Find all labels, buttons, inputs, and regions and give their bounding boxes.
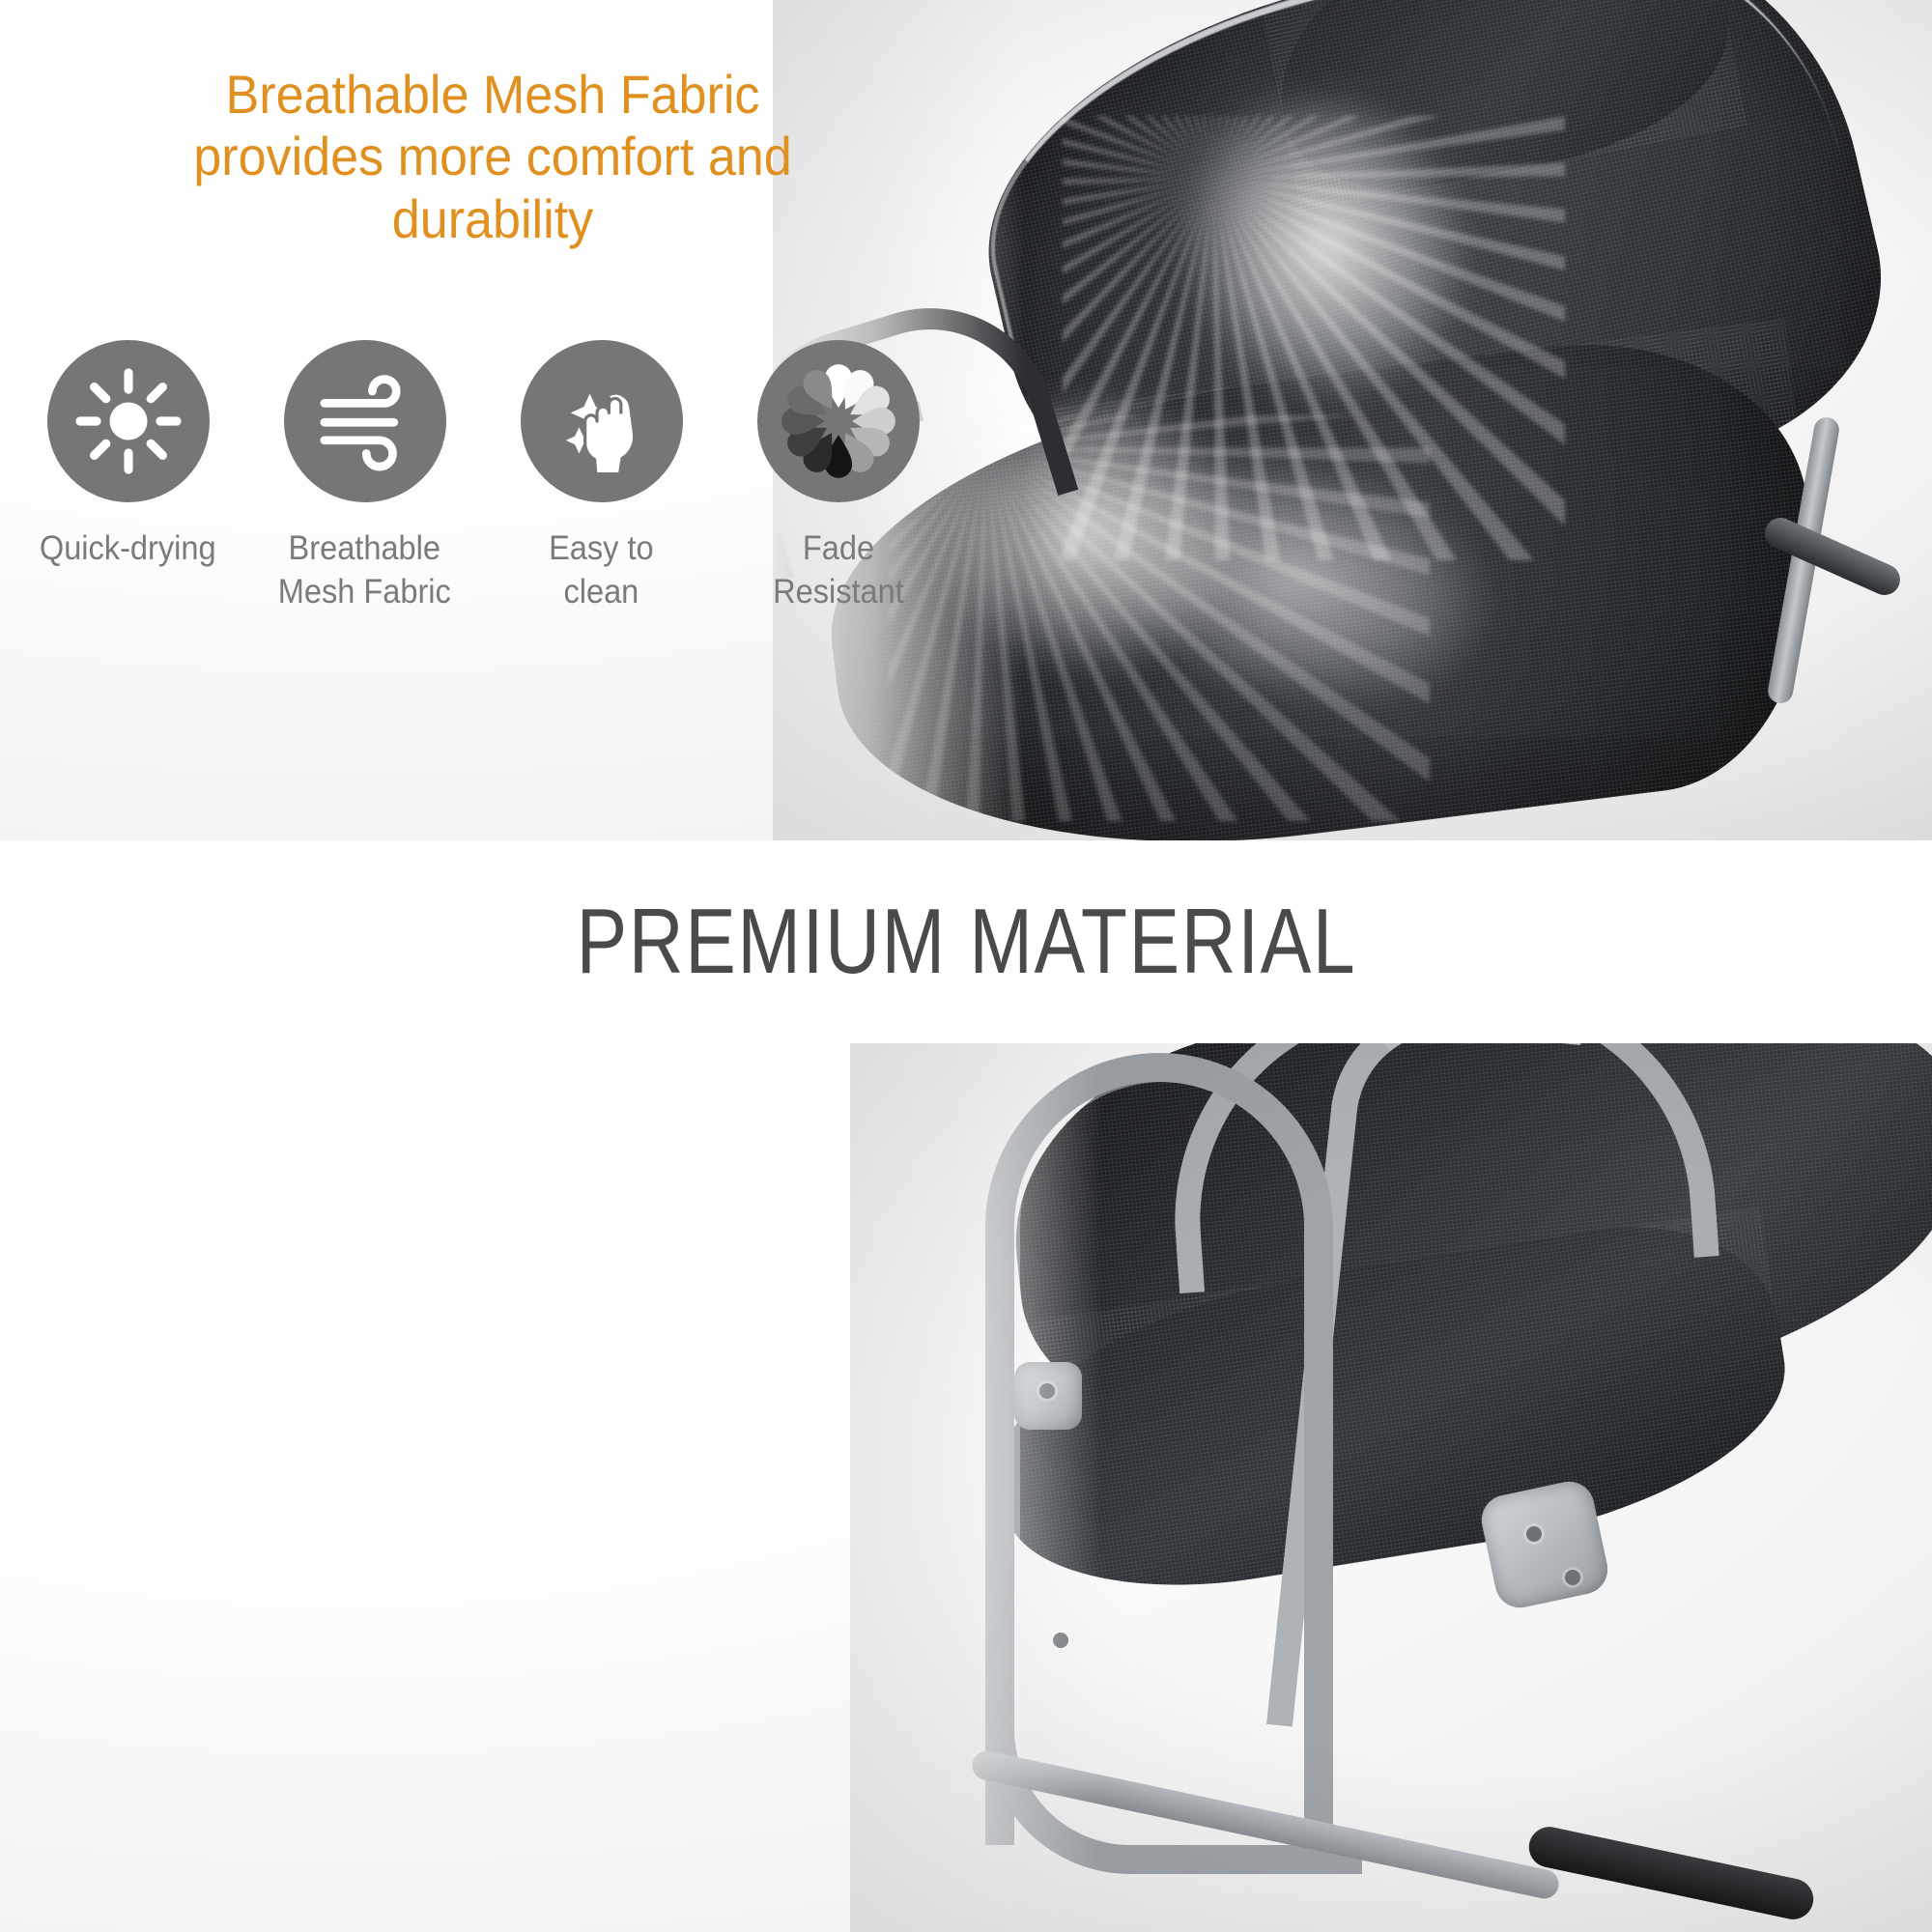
feature-label: Breathable Mesh Fabric	[278, 527, 451, 614]
bolt	[1053, 1633, 1068, 1648]
feature-row-fabric: Quick-drying Breathable Mesh Fabric	[10, 340, 956, 614]
frame-grip-cap	[1525, 1823, 1817, 1922]
feature-easy-to-clean: Easy to clean	[483, 340, 720, 614]
feature-quick-drying: Quick-drying	[10, 340, 246, 614]
bolt	[1039, 1383, 1055, 1399]
section-frame: Durable Aluminum frame for easy carry an…	[0, 1043, 1932, 1932]
feature-label: Quick-drying	[40, 527, 216, 571]
feature-fade-resistant: Fade Resistant	[720, 340, 956, 614]
feature-breathable-mesh: Breathable Mesh Fabric	[246, 340, 483, 614]
section-heading-fabric: Breathable Mesh Fabric provides more com…	[89, 64, 897, 250]
bolt	[1565, 1570, 1580, 1585]
color-wheel-icon	[757, 340, 920, 502]
sun-icon	[47, 340, 210, 502]
hand-wipe-icon	[521, 340, 683, 502]
banner-title: PREMIUM MATERIAL	[576, 889, 1356, 995]
frame-hinge-main	[1477, 1477, 1612, 1612]
wind-icon	[284, 340, 446, 502]
premium-material-banner: PREMIUM MATERIAL	[0, 840, 1932, 1043]
bolt	[1526, 1526, 1542, 1542]
product-infographic: Breathable Mesh Fabric provides more com…	[0, 0, 1932, 1932]
product-photo-aluminum-frame	[850, 1043, 1932, 1932]
feature-label: Easy to clean	[549, 527, 654, 614]
feature-label: Fade Resistant	[773, 527, 904, 614]
section-fabric: Breathable Mesh Fabric provides more com…	[0, 0, 1932, 840]
frame-front-tube	[985, 1053, 1333, 1845]
